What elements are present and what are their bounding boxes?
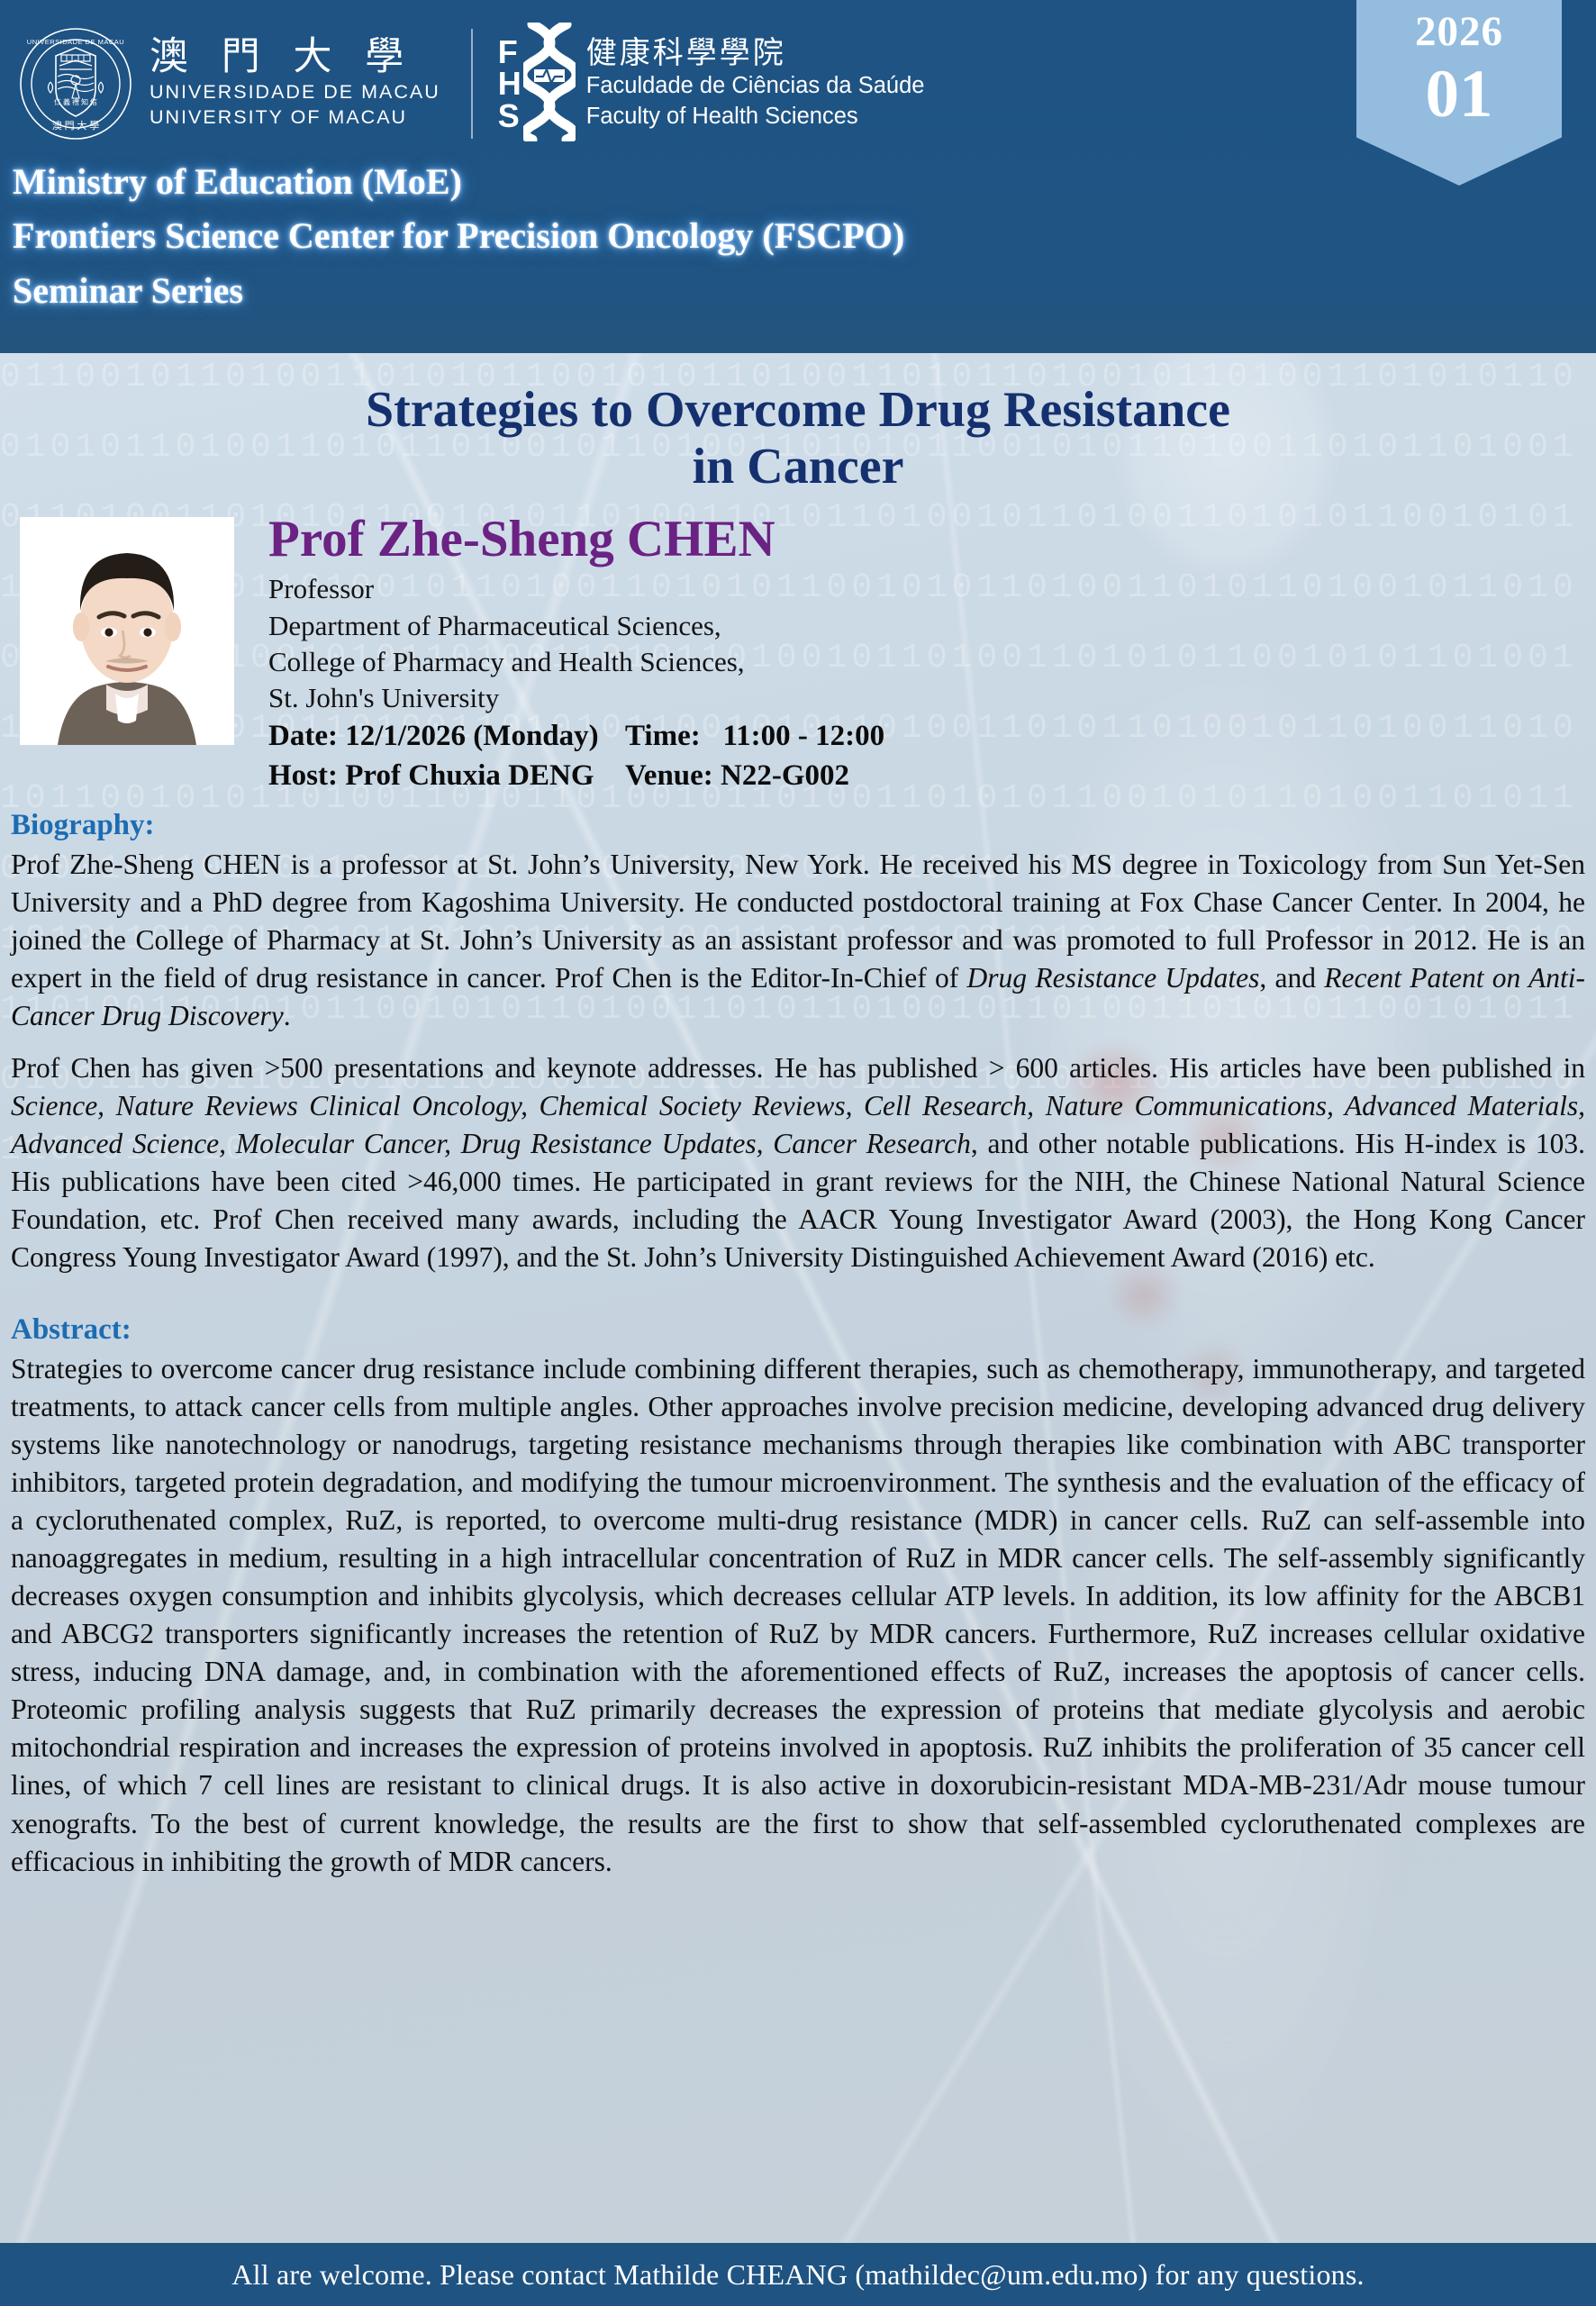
abstract-heading: Abstract: [11, 1312, 1585, 1348]
university-name-block: 澳 門 大 學 UNIVERSIDADE DE MACAU UNIVERSITY… [150, 37, 440, 130]
time-label: Time: [625, 720, 701, 752]
speaker-block: Prof Zhe-Sheng CHEN Professor Department… [11, 504, 1585, 795]
host-value: Prof Chuxia DENG [345, 759, 594, 792]
venue-value: N22-G002 [721, 759, 849, 792]
abstract-paragraph: Strategies to overcome cancer drug resis… [11, 1350, 1585, 1881]
biography-paragraph-1: Prof Zhe-Sheng CHEN is a professor at St… [11, 846, 1585, 1035]
biography-paragraph-2: Prof Chen has given >500 presentations a… [11, 1049, 1585, 1276]
speaker-affiliation-line-1: Professor [268, 571, 1585, 607]
svg-text:澳 門 大 學: 澳 門 大 學 [52, 119, 99, 132]
host-cell: Host: Prof Chuxia DENG [268, 757, 625, 795]
biography-heading: Biography: [11, 808, 1585, 844]
logo-row: UNIVERSIDADE DE MACAU 仁 義 禮 知 信 澳 門 大 學 … [0, 0, 1596, 151]
bio-p1-text-c: . [284, 1000, 291, 1031]
university-name-chinese: 澳 門 大 學 [150, 37, 440, 78]
bio-p1-text-b: , and [1259, 962, 1324, 994]
logo-divider [471, 29, 473, 139]
talk-title-line-2: in Cancer [65, 439, 1531, 495]
fhs-letter-f: F [498, 36, 521, 68]
abstract-section: Abstract: Strategies to overcome cancer … [11, 1291, 1585, 1880]
speaker-portrait-photo [20, 517, 234, 745]
speaker-affiliation-line-2: Department of Pharmaceutical Sciences, [268, 608, 1585, 644]
footer-contact-text: All are welcome. Please contact Mathilde… [231, 2258, 1364, 2292]
bio-p2-text-a: Prof Chen has given >500 presentations a… [11, 1052, 1585, 1084]
university-name-portuguese: UNIVERSIDADE DE MACAU [150, 79, 440, 104]
series-title-line-3: Seminar Series [0, 260, 1596, 314]
svg-text:仁 義 禮 知 信: 仁 義 禮 知 信 [54, 97, 97, 106]
speaker-name: Prof Zhe-Sheng CHEN [268, 513, 1585, 567]
series-title-line-1: Ministry of Education (MoE) [0, 151, 1596, 205]
speaker-affiliation-line-4: St. John's University [268, 680, 1585, 716]
university-of-macau-seal-icon: UNIVERSIDADE DE MACAU 仁 義 禮 知 信 澳 門 大 學 [18, 26, 133, 141]
dna-helix-icon [523, 23, 576, 146]
svg-text:UNIVERSIDADE DE MACAU: UNIVERSIDADE DE MACAU [27, 38, 124, 46]
talk-title: Strategies to Overcome Drug Resistance i… [11, 353, 1585, 504]
bio-p1-journal-1: Drug Resistance Updates [967, 962, 1260, 994]
date-label: Date: [268, 720, 338, 752]
speaker-affiliation-line-3: College of Pharmacy and Health Sciences, [268, 644, 1585, 680]
fhs-letters: F H S [498, 36, 521, 132]
faculty-name-english: Faculty of Health Sciences [586, 102, 925, 132]
biography-section: Biography: Prof Zhe-Sheng CHEN is a prof… [11, 795, 1585, 1276]
speaker-info: Prof Zhe-Sheng CHEN Professor Department… [268, 513, 1585, 795]
poster-content: Strategies to Overcome Drug Resistance i… [0, 353, 1596, 1881]
faculty-name-block: 健康科學學院 Faculdade de Ciências da Saúde Fa… [586, 36, 925, 131]
time-cell: Time: 11:00 - 12:00 [625, 717, 1585, 756]
fhs-letter-s: S [498, 100, 521, 132]
seminar-poster: 0110010110100110101011001010110100110101… [0, 0, 1596, 2306]
series-title-line-2: Frontiers Science Center for Precision O… [0, 205, 1596, 259]
poster-footer: All are welcome. Please contact Mathilde… [0, 2243, 1596, 2306]
date-time-row: Date: 12/1/2026 (Monday) Time: 11:00 - 1… [268, 717, 1585, 756]
host-label: Host: [268, 759, 338, 792]
venue-label: Venue: [625, 759, 713, 792]
faculty-name-chinese: 健康科學學院 [586, 36, 925, 71]
university-name-english: UNIVERSITY OF MACAU [150, 104, 440, 130]
poster-header: 2026 01 [0, 0, 1596, 353]
host-venue-row: Host: Prof Chuxia DENG Venue: N22-G002 [268, 757, 1585, 795]
talk-title-line-1: Strategies to Overcome Drug Resistance [65, 382, 1531, 439]
faculty-name-portuguese: Faculdade de Ciências da Saúde [586, 71, 925, 101]
time-value: 11:00 - 12:00 [722, 720, 884, 752]
fhs-letter-h: H [498, 68, 521, 100]
date-cell: Date: 12/1/2026 (Monday) [268, 717, 625, 756]
date-value: 12/1/2026 (Monday) [345, 720, 598, 752]
fhs-logo-icon: F H S 健康科學學院 Faculdade de Ciências da Sa… [498, 23, 925, 146]
venue-cell: Venue: N22-G002 [625, 757, 1585, 795]
